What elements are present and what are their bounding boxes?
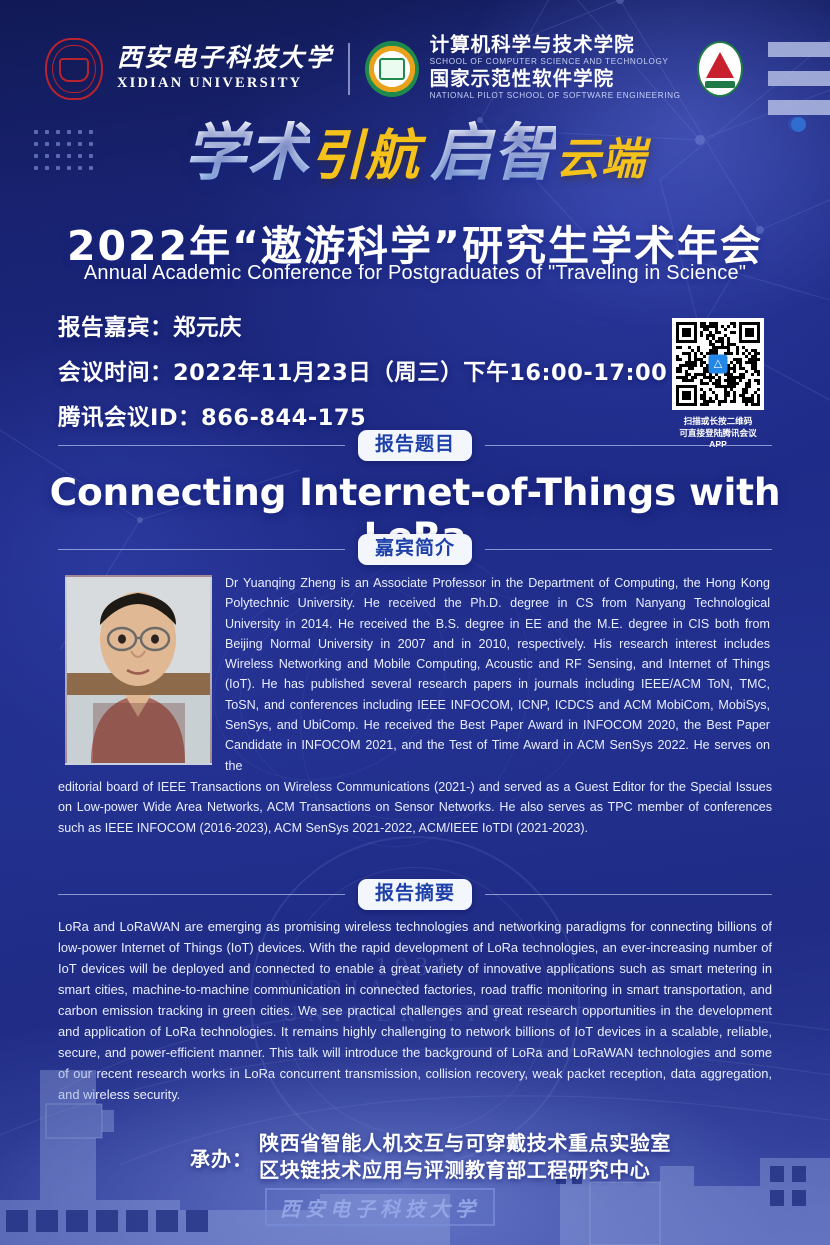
university-plaque: 西安电子科技大学 — [265, 1188, 495, 1226]
organizer-line-1: 陕西省智能人机交互与可穿戴技术重点实验室 — [259, 1130, 671, 1157]
speaker-bio-text: Dr Yuanqing Zheng is an Associate Profes… — [225, 573, 770, 776]
conference-poster: XIDIAN UNIVERSITY 1931 西安电子科技大学 XIDIAN U… — [0, 0, 830, 1245]
hero-slogan-part3: 启智 — [430, 116, 556, 189]
section-header-abstract: 报告摘要 — [58, 879, 772, 910]
qr-caption-line1: 扫描或长按二维码 — [672, 416, 764, 428]
rule-left — [58, 445, 345, 447]
pilot-school-shield-icon — [697, 41, 743, 97]
plaque-text: 西安电子科技大学 — [280, 1193, 480, 1222]
rule-right — [485, 445, 772, 447]
qr-code-image[interactable]: △ — [672, 318, 764, 410]
organizer-block: 承办： 陕西省智能人机交互与可穿戴技术重点实验室 区块链技术应用与评测教育部工程… — [190, 1130, 671, 1184]
speaker-portrait — [65, 575, 212, 765]
portrait-illustration — [67, 577, 210, 763]
rule-left — [58, 894, 345, 896]
conference-title-en: Annual Academic Conference for Postgradu… — [0, 262, 830, 285]
meeting-id-line: 腾讯会议ID：866-844-175 — [58, 400, 667, 432]
section-label-title: 报告题目 — [358, 430, 472, 461]
time-line: 会议时间：2022年11月23日（周三）下午16:00-17:00 — [58, 355, 667, 387]
hero-slogan-part4: 云端 — [556, 134, 646, 185]
hero-slogan-part1: 学术 — [184, 116, 310, 189]
organizer-line-2: 区块链技术应用与评测教育部工程研究中心 — [259, 1157, 671, 1184]
logo-divider — [348, 43, 350, 95]
xidian-seal-icon — [45, 38, 103, 100]
university-name-cn: 西安电子科技大学 — [117, 46, 333, 72]
school-name-en-1: SCHOOL OF COMPUTER SCIENCE AND TECHNOLOG… — [430, 57, 681, 66]
header-logos: 西安电子科技大学 XIDIAN UNIVERSITY 计算机科学与技术学院 SC… — [45, 36, 743, 102]
university-name-en: XIDIAN UNIVERSITY — [117, 75, 333, 92]
xidian-wordmark: 西安电子科技大学 XIDIAN UNIVERSITY — [117, 46, 333, 92]
organizer-names: 陕西省智能人机交互与可穿戴技术重点实验室 区块链技术应用与评测教育部工程研究中心 — [259, 1130, 671, 1184]
school-wordmark: 计算机科学与技术学院 SCHOOL OF COMPUTER SCIENCE AN… — [430, 35, 681, 102]
speaker-line: 报告嘉宾：郑元庆 — [58, 310, 667, 342]
tencent-meeting-logo-icon: △ — [709, 355, 728, 374]
section-label-abstract: 报告摘要 — [358, 879, 472, 910]
school-emblem-icon — [365, 41, 419, 97]
hero-slogan-part2: 引航 — [310, 124, 420, 187]
rule-right — [485, 549, 772, 551]
section-header-title: 报告题目 — [58, 430, 772, 461]
section-label-bio: 嘉宾简介 — [358, 534, 472, 565]
school-name-cn-2: 国家示范性软件学院 — [430, 69, 681, 90]
corner-bars-decoration — [768, 42, 830, 129]
event-meta-block: 报告嘉宾：郑元庆 会议时间：2022年11月23日（周三）下午16:00-17:… — [58, 310, 667, 445]
section-header-bio: 嘉宾简介 — [58, 534, 772, 565]
speaker-bio-text-continued: editorial board of IEEE Transactions on … — [58, 777, 772, 838]
school-name-en-2: NATIONAL PILOT SCHOOL OF SOFTWARE ENGINE… — [430, 91, 681, 100]
hero-slogan: 学术引航启智云端 — [0, 122, 830, 184]
rule-left — [58, 549, 345, 551]
school-name-cn-1: 计算机科学与技术学院 — [430, 35, 681, 56]
organizer-label: 承办： — [190, 1143, 253, 1172]
rule-right — [485, 894, 772, 896]
